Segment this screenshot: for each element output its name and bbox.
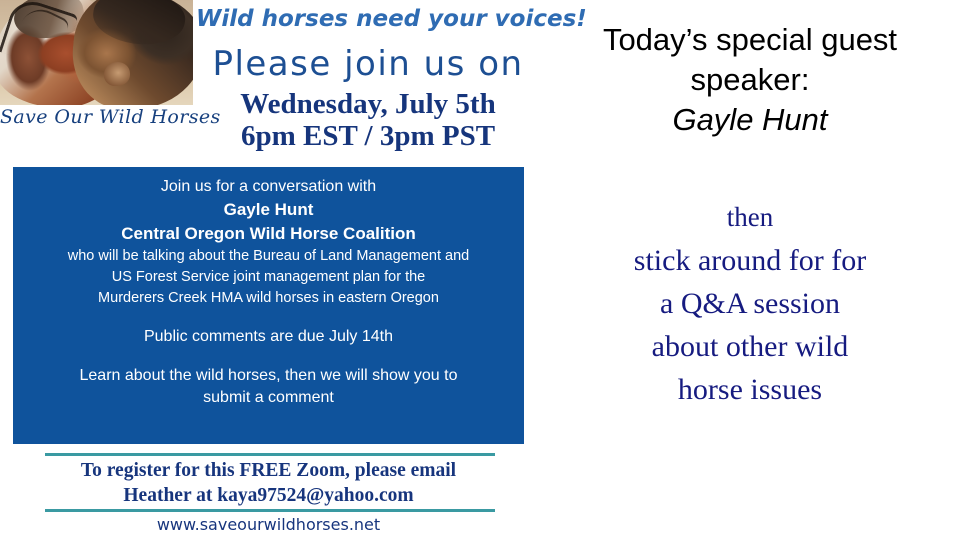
bay-horse-muzzle [104, 62, 130, 86]
brand-wordmark: Save Our Wild Horses [0, 106, 193, 128]
right-column: Today’s special guest speaker: Gayle Hun… [540, 0, 960, 540]
panel-intro-line: Join us for a conversation with [13, 176, 524, 198]
panel-topic-line-2: US Forest Service joint management plan … [13, 267, 524, 288]
guest-speaker-heading-line-2: speaker: [540, 60, 960, 100]
panel-spacer-2 [13, 348, 524, 365]
panel-learn-line-1: Learn about the wild horses, then we wil… [13, 365, 524, 387]
panel-speaker-organization: Central Oregon Wild Horse Coalition [13, 222, 524, 246]
panel-deadline-line: Public comments are due July 14th [13, 326, 524, 348]
panel-learn-line-2: submit a comment [13, 387, 524, 409]
qa-message-line-2: stick around for for [540, 239, 960, 282]
panel-spacer-1 [13, 309, 524, 326]
panel-topic-line-1: who will be talking about the Bureau of … [13, 246, 524, 267]
divider-rule-top [45, 453, 495, 456]
registration-email-line[interactable]: Heather at kaya97524@yahoo.com [13, 483, 524, 508]
flyer-poster: Save Our Wild Horses Wild horses need yo… [0, 0, 960, 540]
wild-horses-photo [0, 0, 193, 105]
qa-message-line-5: horse issues [540, 368, 960, 411]
guest-speaker-heading-line-1: Today’s special guest [540, 20, 960, 60]
guest-speaker-name: Gayle Hunt [540, 100, 960, 140]
guest-speaker-heading: Today’s special guest speaker: Gayle Hun… [540, 20, 960, 140]
qa-message-line-1: then [540, 196, 960, 239]
headline-call-to-action: Wild horses need your voices! [196, 6, 540, 32]
headline-invitation: Please join us on [196, 44, 540, 84]
website-url[interactable]: www.saveourwildhorses.net [13, 515, 524, 534]
qa-message-line-3: a Q&A session [540, 282, 960, 325]
panel-speaker-name: Gayle Hunt [13, 198, 524, 222]
headline-event-date: Wednesday, July 5th [196, 88, 540, 121]
qa-session-message: then stick around for for a Q&A session … [540, 196, 960, 411]
panel-topic-line-3: Murderers Creek HMA wild horses in easte… [13, 288, 524, 309]
event-details-panel: Join us for a conversation with Gayle Hu… [13, 167, 524, 444]
qa-message-line-4: about other wild [540, 325, 960, 368]
left-column: Save Our Wild Horses Wild horses need yo… [0, 0, 540, 540]
divider-rule-bottom [45, 509, 495, 512]
headline-event-time: 6pm EST / 3pm PST [196, 120, 540, 153]
registration-instructions: To register for this FREE Zoom, please e… [13, 458, 524, 508]
registration-line-1: To register for this FREE Zoom, please e… [13, 458, 524, 483]
